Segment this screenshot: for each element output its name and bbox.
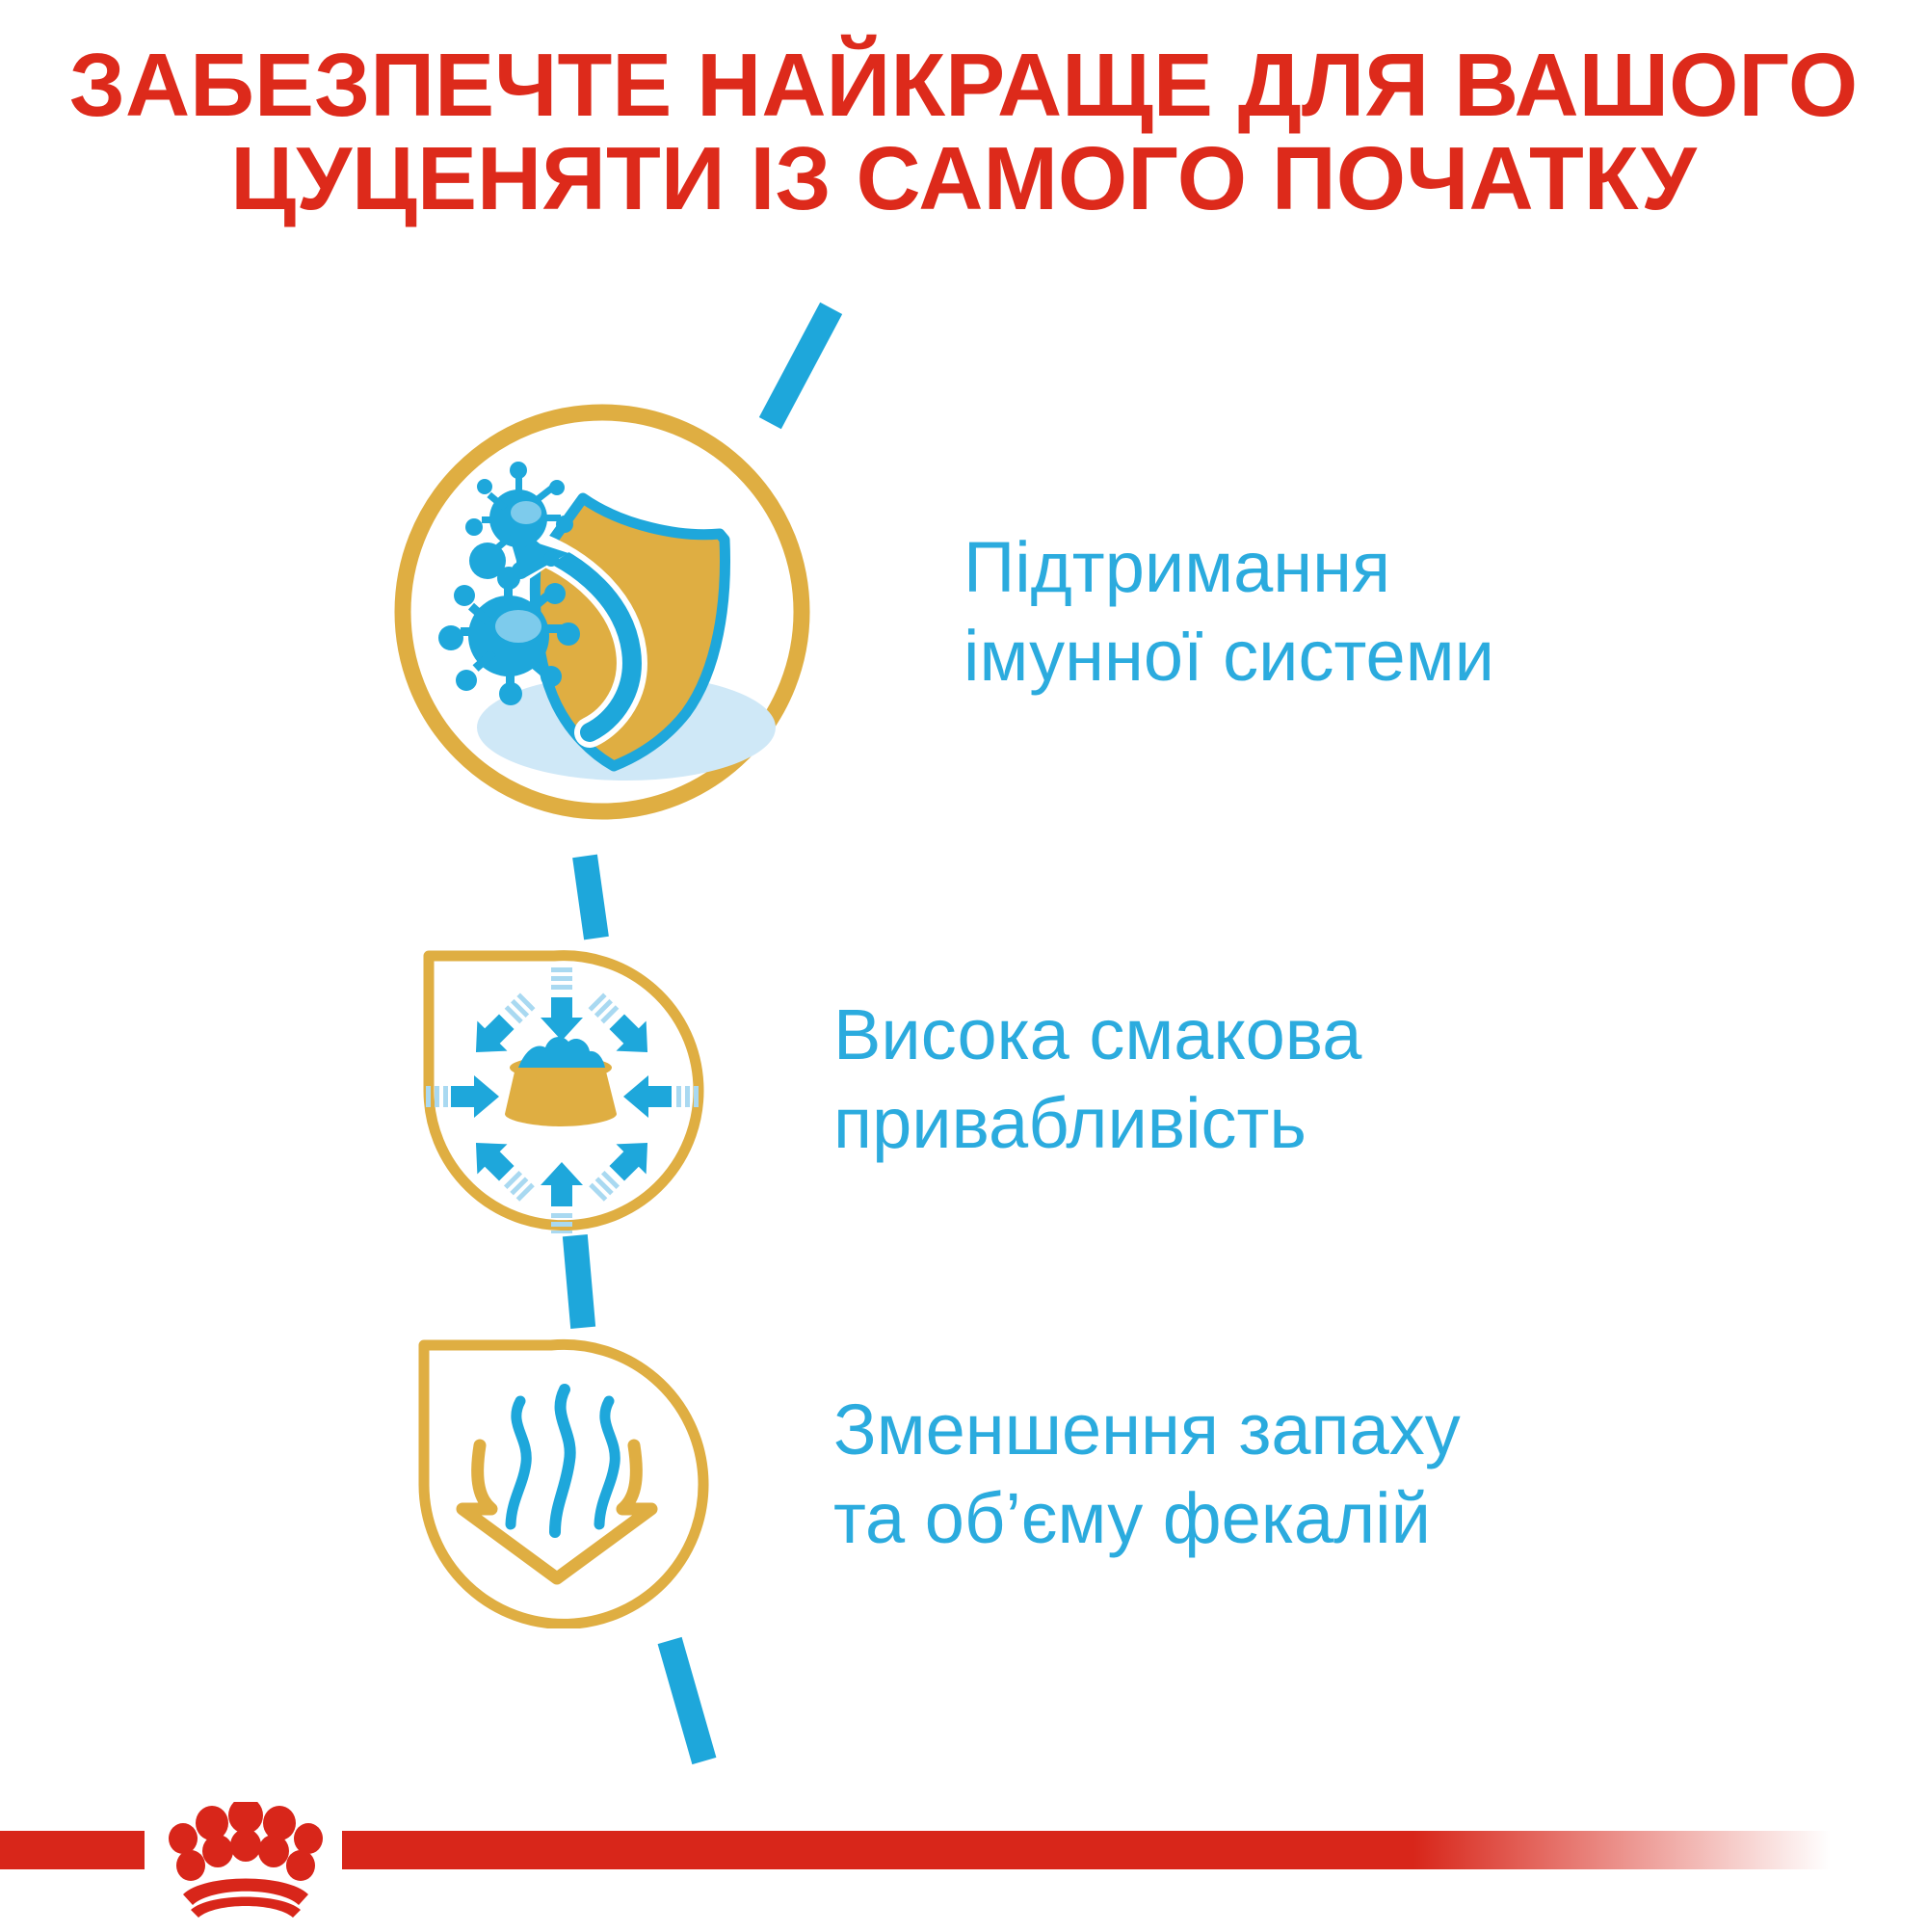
page-title-line-2: ЦУЦЕНЯТИ ІЗ САМОГО ПОЧАТКУ <box>0 132 1927 225</box>
feature-row-immune-system: Підтримання імунної системи <box>385 395 1888 829</box>
feature-row-odour-reduction: Зменшення запаху та об’єму фекалій <box>385 1320 1888 1628</box>
footer-bar-right <box>342 1831 1831 1869</box>
footer <box>0 1812 1927 1932</box>
royal-canin-crown-logo <box>145 1802 347 1919</box>
feature-label-odour-reduction: Зменшення запаху та об’єму фекалій <box>833 1386 1461 1563</box>
immune-shield-icon <box>385 395 819 829</box>
feature-row-palatability: Висока смакова привабливість <box>385 925 1888 1233</box>
footer-bar-left <box>0 1831 145 1869</box>
stool-odour-reduction-icon <box>385 1320 713 1628</box>
food-palatability-icon <box>385 925 771 1233</box>
page-title-line-1: ЗАБЕЗПЕЧТЕ НАЙКРАЩЕ ДЛЯ ВАШОГО <box>0 39 1927 132</box>
feature-label-immune-system: Підтримання імунної системи <box>963 523 1494 701</box>
feature-label-palatability: Висока смакова привабливість <box>833 991 1361 1168</box>
page-title: ЗАБЕЗПЕЧТЕ НАЙКРАЩЕ ДЛЯ ВАШОГО ЦУЦЕНЯТИ … <box>0 39 1927 225</box>
connector-icon-3-to-footer <box>658 1637 717 1764</box>
connector-icon-2-to-icon-3 <box>563 1234 595 1329</box>
